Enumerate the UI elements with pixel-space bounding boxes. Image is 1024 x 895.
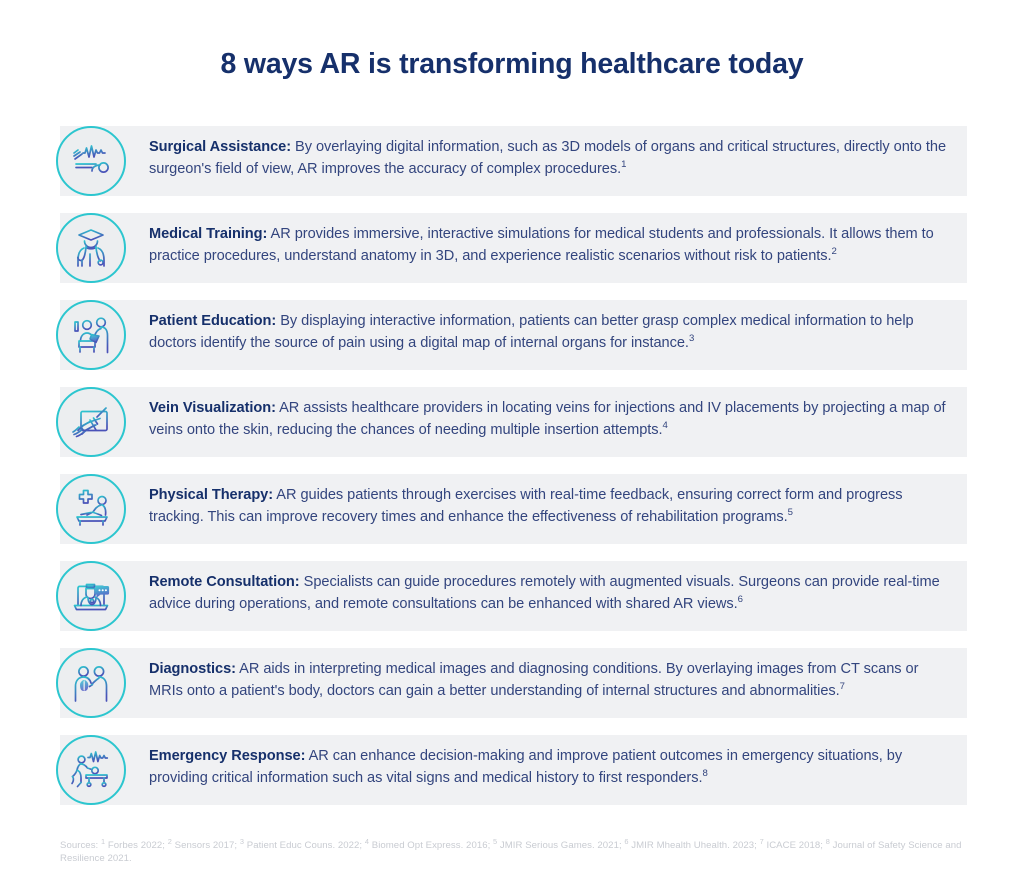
list-item-label: Patient Education: — [149, 313, 276, 329]
infographic-page: 8 ways AR is transforming healthcare tod… — [0, 0, 1024, 895]
list-item-footnote: 2 — [832, 246, 837, 257]
list-item-label: Diagnostics: — [149, 661, 236, 677]
rehab-exercise-bench-icon — [56, 474, 126, 544]
list-item: Surgical Assistance: By overlaying digit… — [0, 126, 1024, 196]
list-item-footnote: 1 — [621, 159, 626, 170]
list-item-label: Emergency Response: — [149, 748, 305, 764]
list-item-text: Diagnostics: AR aids in interpreting med… — [149, 659, 949, 702]
surgery-patient-ecg-icon — [56, 126, 126, 196]
list-item-text: Medical Training: AR provides immersive,… — [149, 224, 949, 267]
list-item-text: Surgical Assistance: By overlaying digit… — [149, 137, 949, 180]
emergency-gurney-icon — [56, 735, 126, 805]
list-item-text: Vein Visualization: AR assists healthcar… — [149, 398, 949, 441]
sources-entries: 1 Forbes 2022; 2 Sensors 2017; 3 Patient… — [60, 840, 962, 864]
list-item: Vein Visualization: AR assists healthcar… — [0, 387, 1024, 457]
list-item: Physical Therapy: AR guides patients thr… — [0, 474, 1024, 544]
list-item-footnote: 6 — [738, 594, 743, 605]
list-item-footnote: 8 — [703, 768, 708, 779]
graduate-doctor-icon — [56, 213, 126, 283]
source-citation: Patient Educ Couns. 2022; — [244, 840, 365, 851]
source-citation: Forbes 2022; — [105, 840, 168, 851]
sources-prefix: Sources: — [60, 840, 101, 851]
list-item-footnote: 5 — [788, 507, 793, 518]
list-item: Patient Education: By displaying interac… — [0, 300, 1024, 370]
list-item-label: Surgical Assistance: — [149, 139, 291, 155]
list-item-label: Remote Consultation: — [149, 574, 300, 590]
list-item-footnote: 3 — [689, 333, 694, 344]
list-item: Diagnostics: AR aids in interpreting med… — [0, 648, 1024, 718]
source-citation: JMIR Mhealth Uhealth. 2023; — [629, 840, 760, 851]
lung-examination-icon — [56, 648, 126, 718]
source-citation: JMIR Serious Games. 2021; — [497, 840, 624, 851]
list-item-label: Medical Training: — [149, 226, 267, 242]
list-item-body: AR aids in interpreting medical images a… — [149, 661, 918, 699]
arm-syringe-vein-scan-icon — [56, 387, 126, 457]
page-title: 8 ways AR is transforming healthcare tod… — [0, 48, 1024, 81]
list-item-footnote: 7 — [840, 681, 845, 692]
items-list: Surgical Assistance: By overlaying digit… — [0, 126, 1024, 822]
source-citation: ICACE 2018; — [764, 840, 826, 851]
doctor-patient-consultation-icon — [56, 300, 126, 370]
list-item: Medical Training: AR provides immersive,… — [0, 213, 1024, 283]
list-item-label: Physical Therapy: — [149, 487, 273, 503]
list-item: Remote Consultation: Specialists can gui… — [0, 561, 1024, 631]
list-item: Emergency Response: AR can enhance decis… — [0, 735, 1024, 805]
source-citation: Sensors 2017; — [172, 840, 240, 851]
list-item-text: Physical Therapy: AR guides patients thr… — [149, 485, 949, 528]
list-item-text: Patient Education: By displaying interac… — [149, 311, 949, 354]
source-citation: Biomed Opt Express. 2016; — [369, 840, 493, 851]
list-item-body: AR provides immersive, interactive simul… — [149, 226, 934, 264]
laptop-telemedicine-chat-icon — [56, 561, 126, 631]
list-item-label: Vein Visualization: — [149, 400, 276, 416]
list-item-text: Remote Consultation: Specialists can gui… — [149, 572, 949, 615]
list-item-footnote: 4 — [663, 420, 668, 431]
sources-footnote: Sources: 1 Forbes 2022; 2 Sensors 2017; … — [60, 839, 970, 865]
list-item-text: Emergency Response: AR can enhance decis… — [149, 746, 949, 789]
